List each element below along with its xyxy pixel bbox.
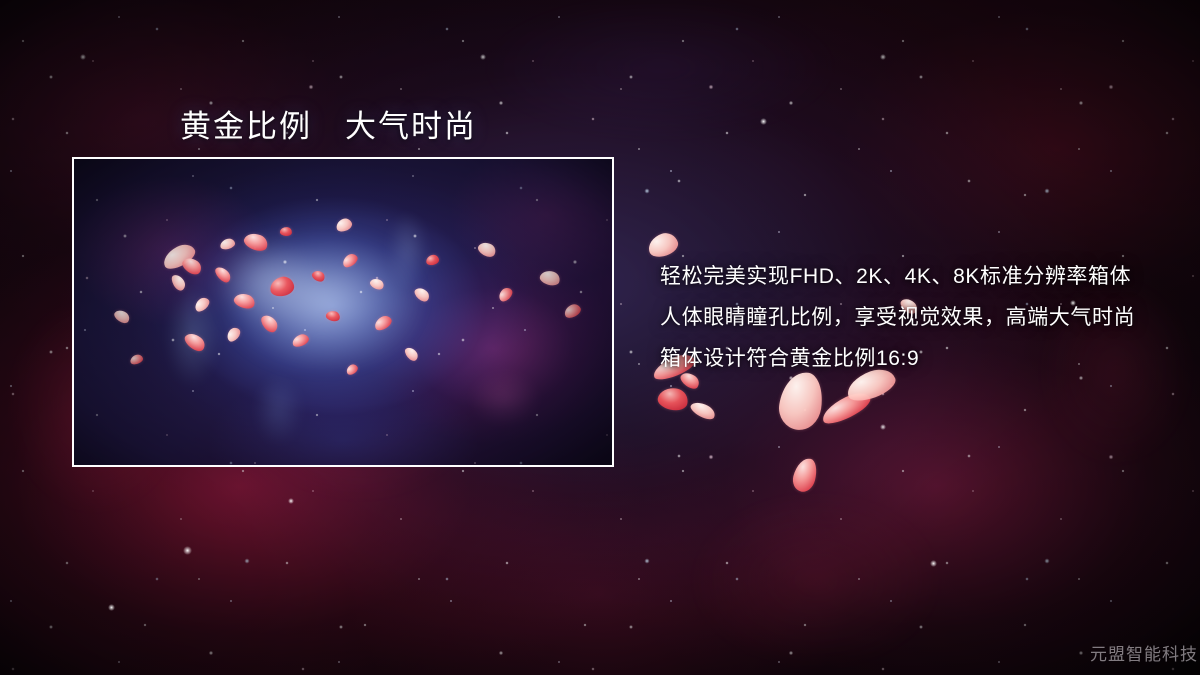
bright-star-icon [288, 498, 294, 504]
watermark: 元盟智能科技 [1090, 640, 1198, 665]
flower-petal-icon [688, 399, 717, 423]
body-text-block: 轻松完美实现FHD、2K、4K、8K标准分辨率箱体 人体眼睛瞳孔比例，享受视觉效… [660, 256, 1180, 379]
body-line: 轻松完美实现FHD、2K、4K、8K标准分辨率箱体 [660, 256, 1180, 297]
photo-vignette [74, 159, 612, 465]
bright-star-icon [930, 560, 937, 567]
flower-petal-icon [790, 456, 820, 494]
bright-star-icon [108, 604, 115, 611]
bright-star-icon [183, 546, 192, 555]
page-title: 黄金比例 大气时尚 [180, 101, 477, 146]
galaxy-petals-photo [72, 157, 614, 467]
slide-canvas: 黄金比例 大气时尚 轻松完美实现FHD、2K、4K、8K标准分辨率箱体 人体眼睛… [0, 0, 1200, 675]
body-line: 箱体设计符合黄金比例16:9 [660, 338, 1180, 379]
body-line: 人体眼睛瞳孔比例，享受视觉效果，高端大气时尚 [660, 297, 1180, 338]
flower-petal-icon [656, 385, 690, 413]
bright-star-icon [760, 118, 767, 125]
